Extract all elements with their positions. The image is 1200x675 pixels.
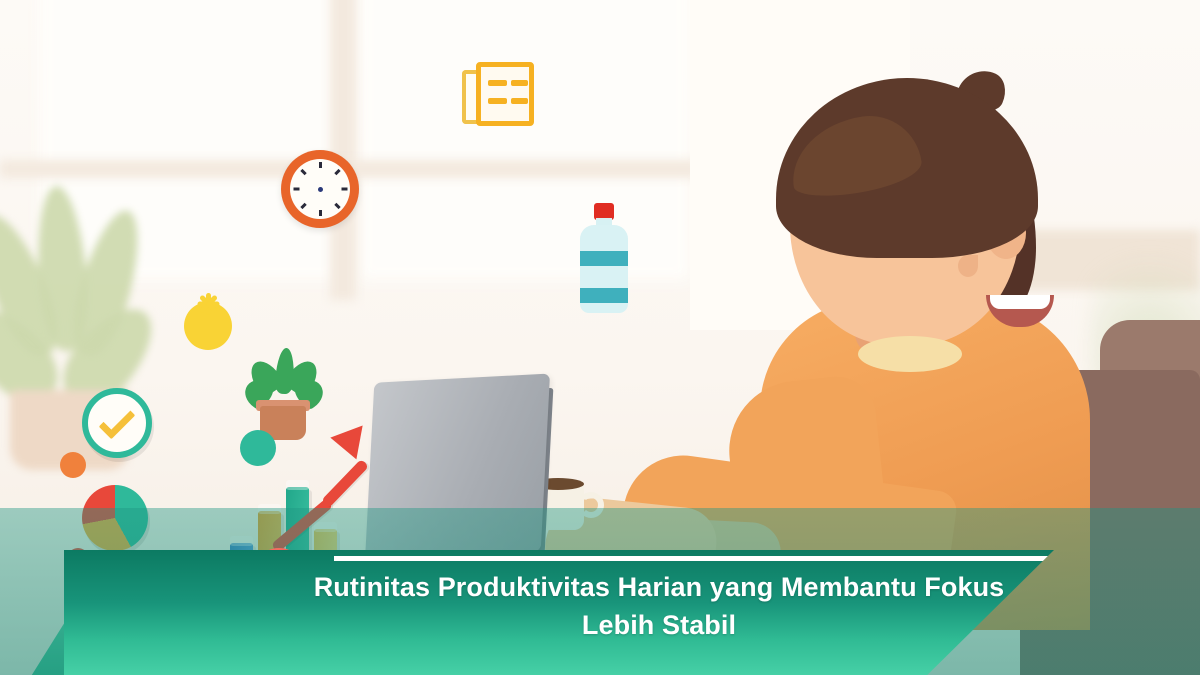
notebook-line [488, 80, 507, 86]
checkmark-icon [99, 403, 136, 440]
clock-center-pin [318, 187, 323, 192]
growth-arrow-head [330, 415, 375, 460]
notebook-line [511, 98, 528, 104]
wall-clock-icon [281, 150, 359, 228]
page-title-line-1: Rutinitas Produktivitas Harian yang Memb… [314, 572, 1005, 602]
title-banner: Rutinitas Produktivitas Harian yang Memb… [64, 550, 1054, 675]
page-title-line-2: Lebih Stabil [582, 610, 736, 640]
growth-arrow-segment [321, 459, 369, 508]
window-mullion-vertical [330, 0, 356, 300]
clock-tick [319, 210, 322, 216]
clock-face [290, 159, 350, 219]
clock-tick [300, 203, 306, 209]
page-title: Rutinitas Produktivitas Harian yang Memb… [264, 568, 1054, 645]
illustration-canvas: Rutinitas Produktivitas Harian yang Memb… [0, 0, 1200, 675]
checkmark-clock-icon [82, 388, 152, 458]
clock-tick [300, 169, 306, 175]
clock-tick [319, 162, 322, 168]
bottle-band [580, 288, 628, 303]
clock-tick [334, 203, 340, 209]
person-nose [958, 255, 978, 277]
notebook-front-cover [476, 62, 534, 126]
notebook-line [488, 98, 507, 104]
bottle-band [580, 251, 628, 266]
banner-rule [334, 556, 1052, 561]
orange-sphere-small [60, 452, 86, 478]
clock-tick [334, 169, 340, 175]
notebook-line [511, 80, 528, 86]
person-teeth [990, 295, 1050, 309]
water-bottle-icon [578, 203, 630, 313]
clock-tick [293, 188, 299, 191]
clock-tick [341, 188, 347, 191]
person-shirt-collar [858, 336, 962, 372]
notebook-icon [462, 62, 534, 128]
